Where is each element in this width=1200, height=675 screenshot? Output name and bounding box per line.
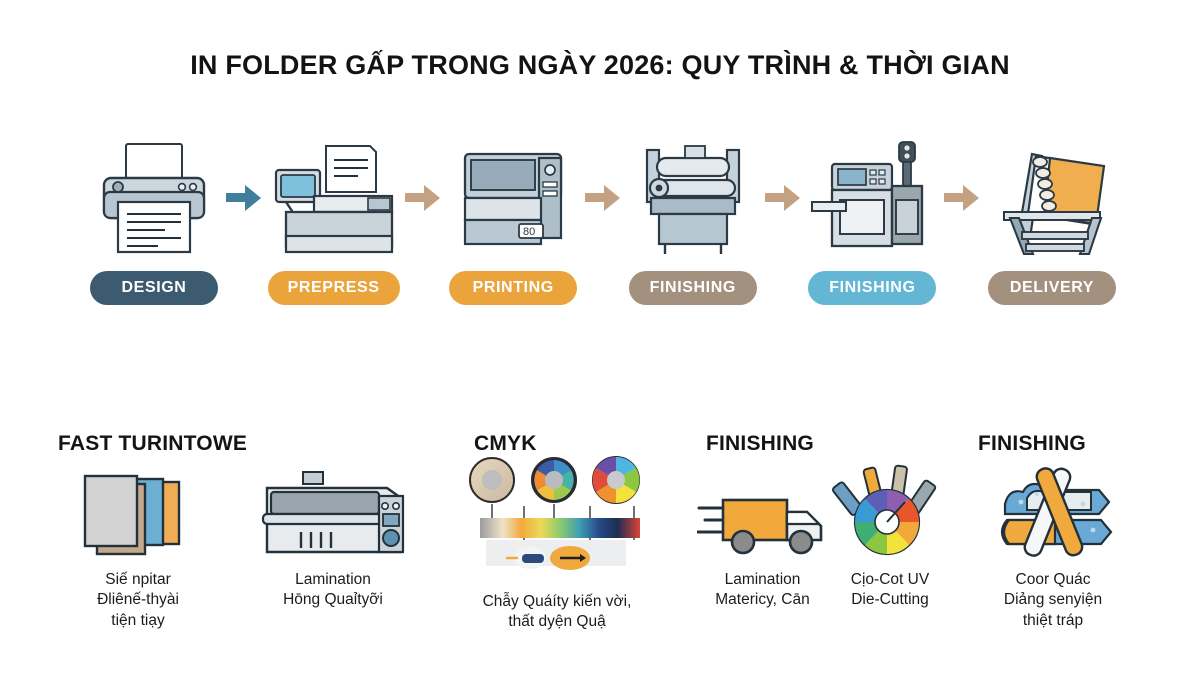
pipeline-step-delivery[interactable]: DELIVERY	[986, 138, 1118, 305]
color-wheel-pens-icon	[831, 458, 949, 562]
pipeline-pill-design[interactable]: DESIGN	[90, 271, 218, 305]
pipeline-pill-finishing[interactable]: FINISHING	[629, 271, 757, 305]
infographic-page: IN FOLDER GẤP TRONG NGÀY 2026: QUY TRÌNH…	[0, 0, 1200, 675]
process-pipeline: DESIGN	[88, 138, 1118, 318]
group-heading-finishing-2: FINISHING	[978, 432, 1086, 456]
group-heading-cmyk: CMYK	[474, 432, 537, 456]
detail-caption: Siế npitar Đliênế-thyài tiện tiạy	[97, 570, 179, 631]
detail-cell-cmyk-chart[interactable]: Chẫy Quáíty kiến vời, thất dyện Quậ	[452, 454, 662, 633]
detail-cell-delivery-truck[interactable]: Lamination Matericy, Cān	[690, 466, 835, 611]
prepress-console-icon	[268, 138, 400, 258]
arrow-printing-to-finishing	[583, 138, 623, 258]
arrow-finishing-to-finishing	[763, 138, 803, 258]
arrow-finishing-to-delivery	[942, 138, 982, 258]
detail-cell-paper-stack[interactable]: Siế npitar Đliênế-thyài tiện tiạy	[48, 466, 228, 631]
roller-press-icon	[627, 138, 759, 258]
pipeline-step-finishing-cutter[interactable]: FINISHING	[806, 138, 938, 305]
svg-text:80: 80	[523, 226, 535, 238]
pipeline-step-finishing-roller[interactable]: FINISHING	[627, 138, 759, 305]
pipeline-pill-finishing-blue[interactable]: FINISHING	[808, 271, 936, 305]
page-title: IN FOLDER GẤP TRONG NGÀY 2026: QUY TRÌNH…	[0, 50, 1200, 81]
detail-caption: Lamination Hōng Quaỉtyỡi	[283, 570, 383, 611]
detail-caption: Lamination Matericy, Cān	[715, 570, 809, 611]
paper-stack-icon	[79, 466, 197, 562]
delivery-truck-icon	[697, 466, 829, 562]
detail-caption: Coor Quác Diảng senyiện thiệt tráp	[1004, 570, 1102, 631]
arrow-design-to-prepress	[224, 138, 264, 258]
detail-caption: Cịo-Cot UV Die-Cutting	[851, 570, 929, 611]
pipeline-pill-delivery[interactable]: DELIVERY	[988, 271, 1116, 305]
detail-caption: Chẫy Quáíty kiến vời, thất dyện Quậ	[483, 592, 632, 633]
crossed-sticks-icon	[987, 458, 1119, 562]
pipeline-pill-printing[interactable]: PRINTING	[449, 271, 577, 305]
detail-cell-color-wheel[interactable]: Cịo-Cot UV Die-Cutting	[820, 458, 960, 611]
cmyk-color-chart-icon	[462, 454, 652, 584]
detail-section: FAST TURINTOWE CMYK FINISHING FINISHING …	[0, 420, 1200, 670]
pipeline-step-design[interactable]: DESIGN	[88, 138, 220, 305]
offset-press-icon: 80	[447, 138, 579, 258]
cutting-machine-icon	[806, 138, 938, 258]
desktop-printer-icon	[88, 138, 220, 258]
detail-cell-crossed-sticks[interactable]: Coor Quác Diảng senyiện thiệt tráp	[968, 458, 1138, 631]
binding-rack-icon	[986, 138, 1118, 258]
pipeline-step-printing[interactable]: 80 PRINTING	[447, 138, 579, 305]
pipeline-step-prepress[interactable]: PREPRESS	[268, 138, 400, 305]
lamination-machine-icon	[257, 466, 409, 562]
group-heading-finishing-1: FINISHING	[706, 432, 814, 456]
pipeline-pill-prepress[interactable]: PREPRESS	[268, 271, 400, 305]
arrow-prepress-to-printing	[403, 138, 443, 258]
group-heading-fast: FAST TURINTOWE	[58, 432, 247, 456]
detail-cell-lamination-machine[interactable]: Lamination Hōng Quaỉtyỡi	[248, 466, 418, 611]
